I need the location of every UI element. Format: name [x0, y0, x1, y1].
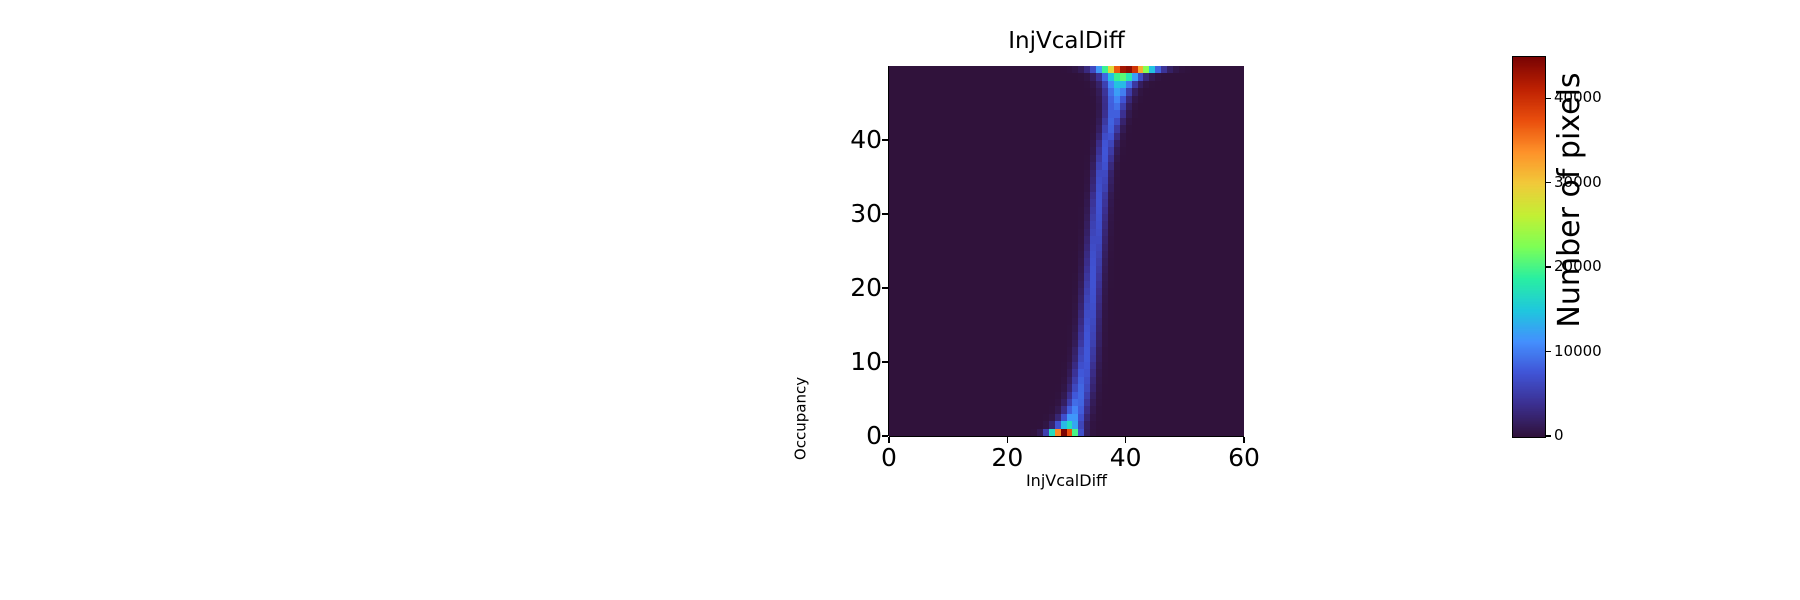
heatmap-image	[889, 66, 1244, 436]
colorbar-tick-mark	[1545, 435, 1551, 436]
colorbar-tick-mark	[1545, 98, 1551, 99]
colorbar	[1512, 56, 1544, 436]
x-tick-label: 0	[854, 444, 924, 472]
colorbar-tick-mark	[1545, 266, 1551, 267]
colorbar-tick-mark	[1545, 351, 1551, 352]
x-tick-label: 60	[1209, 444, 1279, 472]
y-tick-mark	[882, 435, 888, 436]
y-tick-mark	[882, 361, 888, 362]
colorbar-label-holder: Number of pixels	[1540, 165, 1800, 225]
colorbar-tick-label: 0	[1554, 428, 1564, 443]
x-tick-label: 40	[1091, 444, 1161, 472]
x-tick-label: 20	[972, 444, 1042, 472]
colorbar-gradient	[1512, 56, 1546, 438]
colorbar-label: Number of pixels	[1553, 40, 1587, 360]
heatmap-axes[interactable]	[889, 66, 1244, 436]
figure-canvas: InjVcalDiff 403020100 0204060 Occupancy …	[0, 0, 1800, 600]
y-tick-label: 10	[822, 349, 882, 374]
plot-title: InjVcalDiff	[889, 28, 1244, 54]
x-axis-label: InjVcalDiff	[889, 472, 1244, 490]
y-tick-mark	[882, 139, 888, 140]
y-axis-label: Occupancy	[793, 339, 810, 499]
y-axis-label-holder: Occupancy	[735, 160, 895, 320]
x-axis-spine	[889, 436, 1244, 437]
y-tick-label: 40	[822, 127, 882, 152]
